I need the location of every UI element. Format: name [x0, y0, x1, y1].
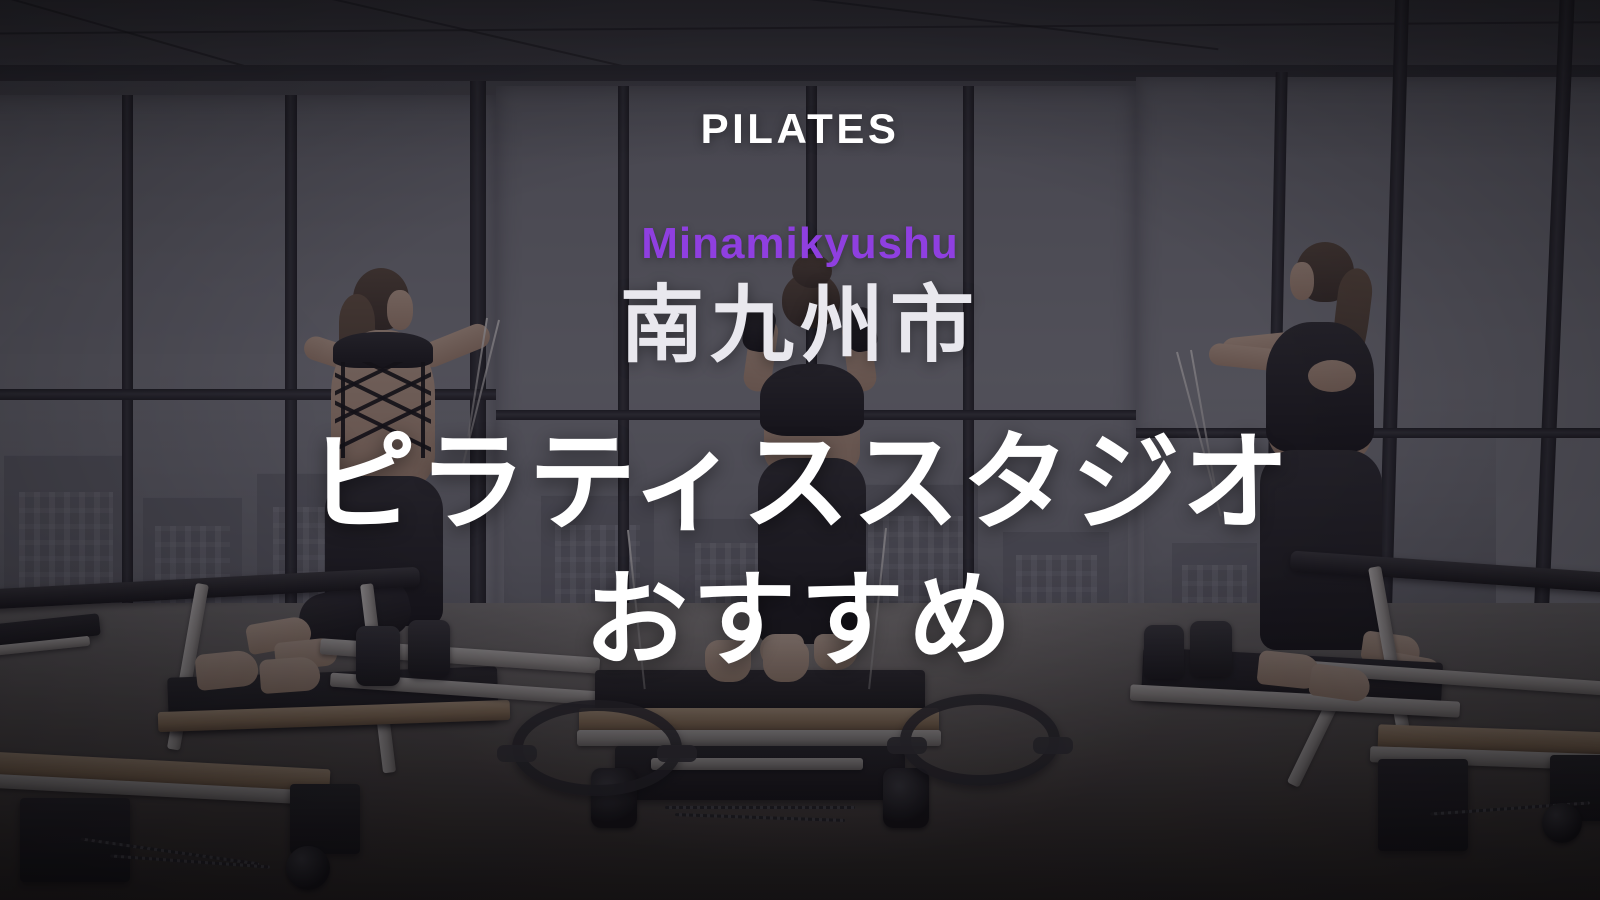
city-romaji-label: Minamikyushu: [641, 222, 959, 266]
eyebrow-label: PILATES: [701, 108, 900, 150]
main-title: ピラティススタジオ: [308, 423, 1292, 544]
subtitle: おすすめ: [584, 564, 1016, 678]
city-japanese-heading: 南九州市: [620, 280, 980, 371]
hero-text-block: PILATES Minamikyushu 南九州市 ピラティススタジオ おすすめ: [0, 0, 1600, 900]
pilates-hero-banner: PILATES Minamikyushu 南九州市 ピラティススタジオ おすすめ: [0, 0, 1600, 900]
